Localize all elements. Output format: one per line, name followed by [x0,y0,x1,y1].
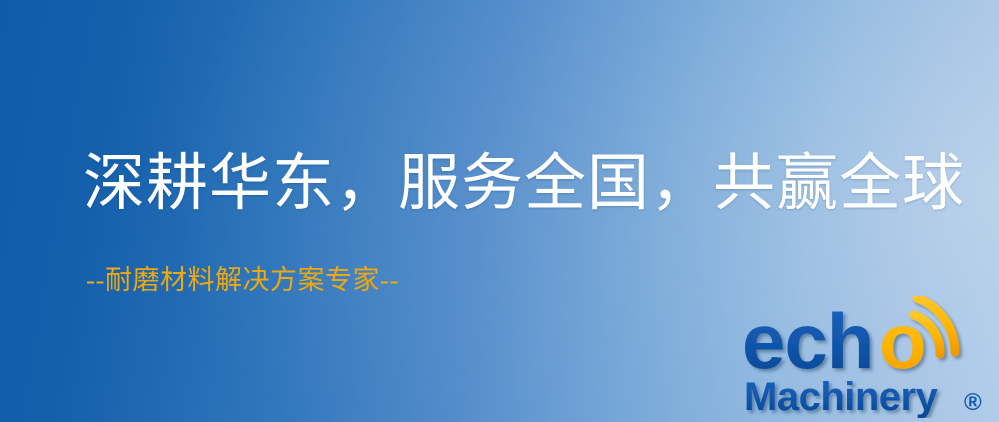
echo-machinery-logo[interactable]: ech o Machinery ® [742,296,994,418]
logo-wordmark-o: o [879,297,927,385]
banner-subtitle: --耐磨材料解决方案专家-- [86,264,399,296]
banner-headline: 深耕华东，服务全国，共赢全球 [83,152,965,217]
promo-banner: 深耕华东，服务全国，共赢全球 --耐磨材料解决方案专家-- [0,0,999,422]
logo-wordmark-ech: ech [742,297,873,385]
registered-trademark-icon: ® [964,389,982,416]
logo-tagline: Machinery [744,375,939,418]
